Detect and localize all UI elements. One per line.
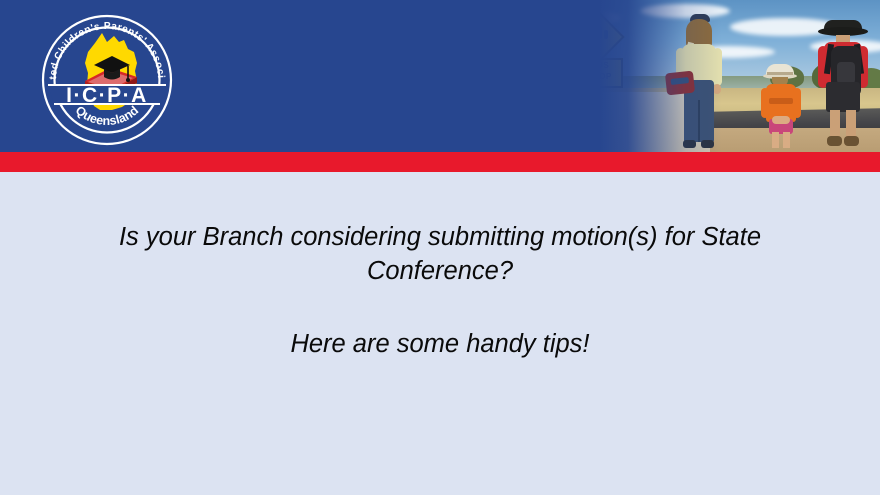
subheadline-tips: Here are some handy tips! xyxy=(52,327,828,361)
photo-blue-blend-overlay xyxy=(520,0,880,152)
icpa-queensland-logo: Isolated Children's Parents' Association… xyxy=(38,11,176,149)
slide-body: Is your Branch considering submitting mo… xyxy=(0,172,880,495)
logo-acronym: I·C·P·A xyxy=(66,84,148,107)
headline-question: Is your Branch considering submitting mo… xyxy=(52,220,828,288)
header-banner: BUS STOP xyxy=(0,0,880,152)
red-accent-rule xyxy=(0,152,880,172)
presentation-slide: BUS STOP xyxy=(0,0,880,495)
rural-family-walking-to-bus-stop-photo: BUS STOP xyxy=(520,0,880,152)
